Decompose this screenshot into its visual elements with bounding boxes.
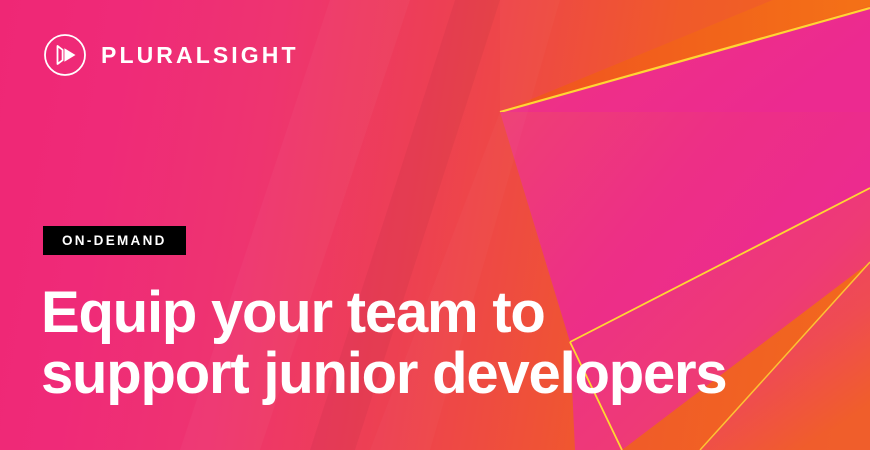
pluralsight-logo[interactable]: PLURALSIGHT	[43, 33, 299, 77]
on-demand-badge: ON-DEMAND	[43, 226, 186, 255]
on-demand-badge-label: ON-DEMAND	[62, 234, 167, 248]
headline-line-2: support junior developers	[41, 344, 781, 405]
pluralsight-promo-banner: PLURALSIGHT ON-DEMAND Equip your team to…	[0, 0, 870, 450]
pluralsight-wordmark: PLURALSIGHT	[101, 44, 299, 67]
headline: Equip your team to support junior develo…	[41, 283, 781, 405]
pluralsight-play-circle-icon	[43, 33, 87, 77]
headline-line-1: Equip your team to	[41, 283, 781, 344]
